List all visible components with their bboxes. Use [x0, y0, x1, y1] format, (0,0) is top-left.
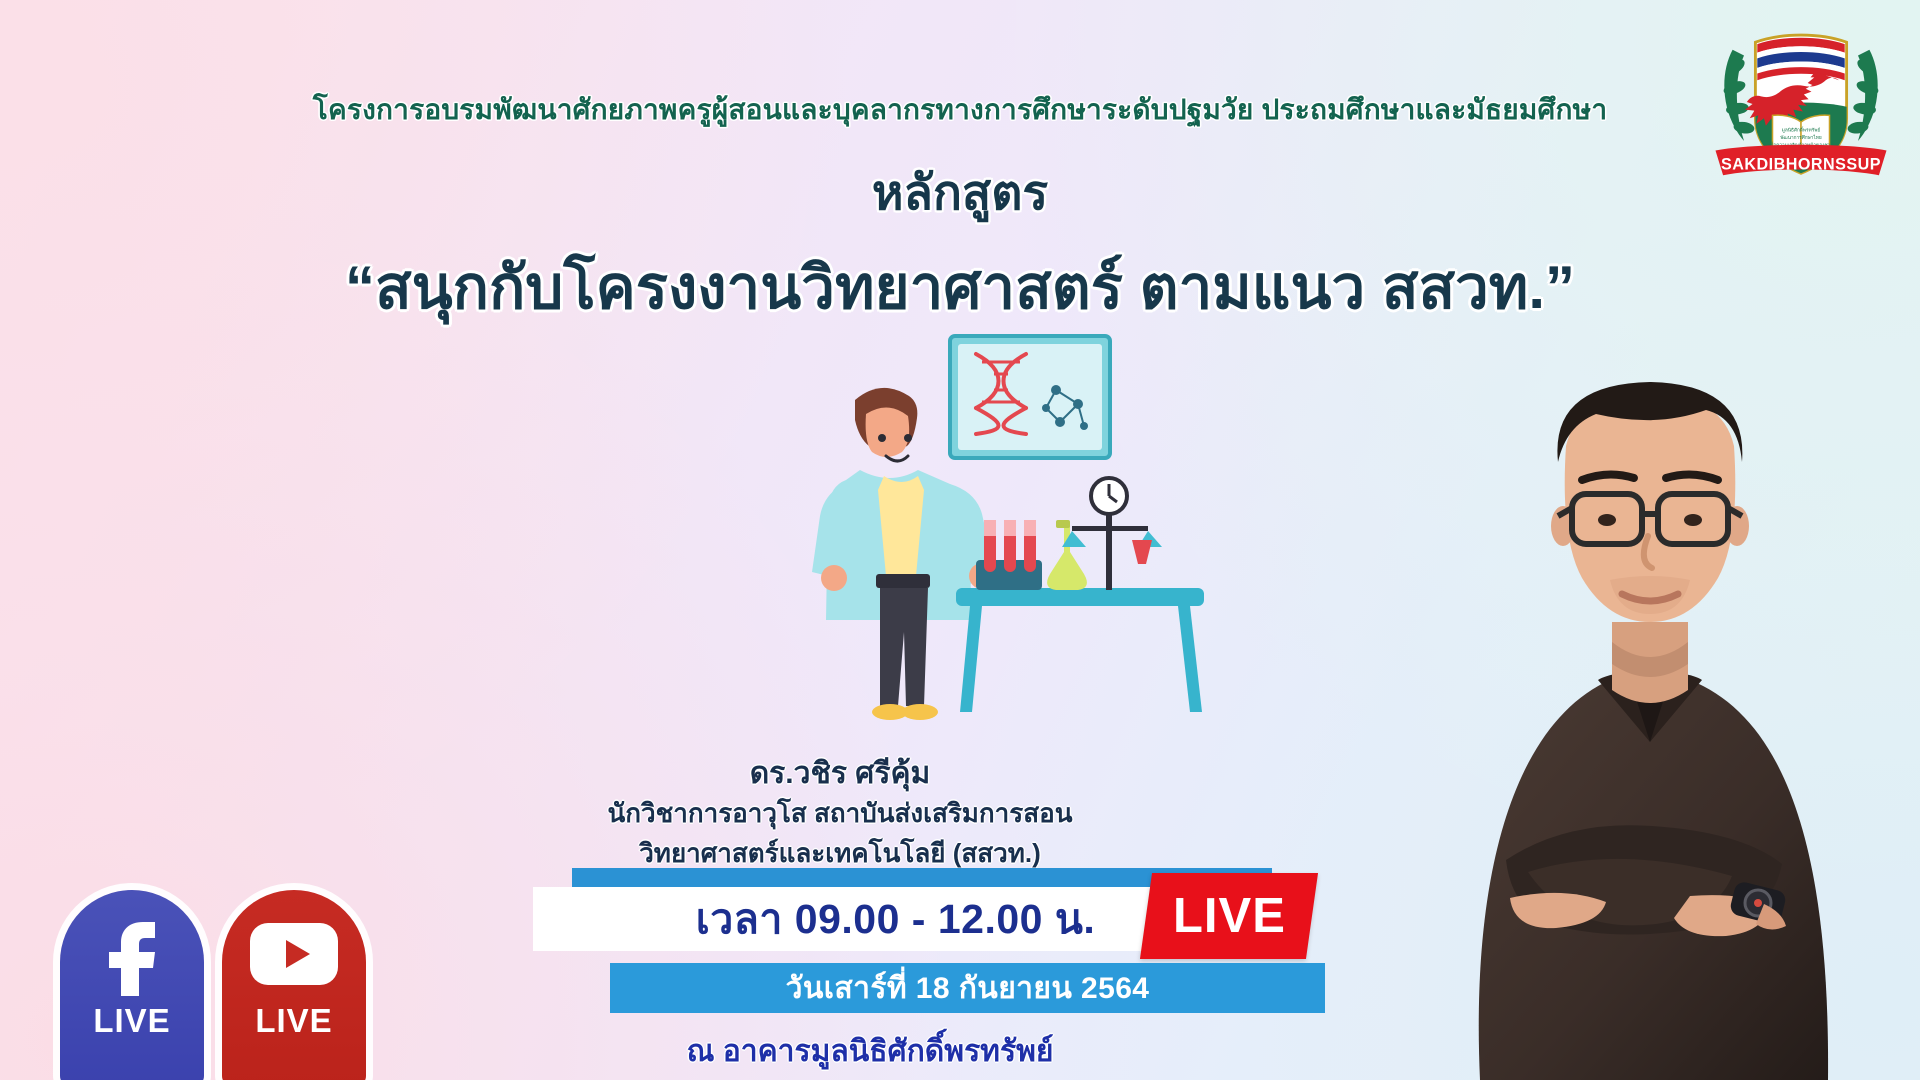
lab-table: [956, 588, 1204, 712]
date-banner: วันเสาร์ที่ 18 กันยายน 2564: [610, 963, 1325, 1013]
speaker-name: ดร.วชิร ศรีคุ้ม: [560, 750, 1120, 797]
presenter-photo: [1360, 250, 1920, 1080]
live-badge-label: LIVE: [1173, 888, 1286, 944]
dna-screen-icon: [950, 336, 1110, 458]
time-text: เวลา 09.00 - 12.00 น.: [696, 887, 1096, 952]
seminar-poster: โครงการอบรมพัฒนาศักยภาพครูผู้สอนและบุคลา…: [0, 0, 1920, 1080]
course-kicker-label: หลักสูตร: [0, 155, 1920, 231]
youtube-live-label: LIVE: [255, 1002, 332, 1040]
venue-text: ณ อาคารมูลนิธิศักดิ์พรทรัพย์: [560, 1028, 1180, 1075]
program-header-text: โครงการอบรมพัฒนาศักยภาพครูผู้สอนและบุคลา…: [0, 88, 1920, 132]
facebook-live-badge[interactable]: LIVE: [60, 890, 204, 1080]
scientist-laboratory-illustration: [760, 330, 1210, 740]
live-badge: LIVE: [1140, 873, 1318, 959]
youtube-play-icon: [248, 912, 340, 996]
facebook-live-label: LIVE: [93, 1002, 170, 1040]
sakdibhornssup-school-logo: มูลนิธิศักดิ์พรทรัพย์ พัฒนาการศึกษาไทย เ…: [1706, 8, 1896, 198]
test-tubes: [976, 520, 1042, 590]
logo-ribbon-text: SAKDIBHORNSSUP: [1721, 156, 1881, 174]
date-text: วันเสาร์ที่ 18 กันยายน 2564: [786, 965, 1150, 1012]
youtube-live-badge[interactable]: LIVE: [222, 890, 366, 1080]
facebook-icon: [101, 912, 163, 996]
speaker-role-line-1: นักวิชาการอาวุโส สถาบันส่งเสริมการสอน: [560, 793, 1120, 834]
